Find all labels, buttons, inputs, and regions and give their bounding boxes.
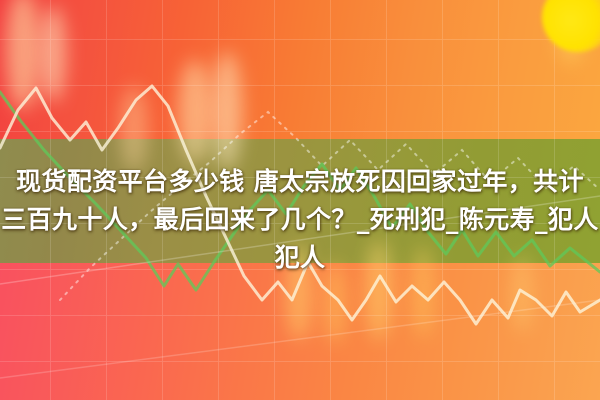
headline-line-2: 三百九十人，最后回来了几个？_死刑犯_陈元寿_犯人 <box>0 201 600 239</box>
headline-line-3: 犯人 <box>0 239 600 277</box>
screenshot-canvas: 现货配资平台多少钱 唐太宗放死囚回家过年，共计 三百九十人，最后回来了几个？_死… <box>0 0 600 400</box>
chart-support-line-2 <box>0 300 600 378</box>
headline-text: 现货配资平台多少钱 唐太宗放死囚回家过年，共计 三百九十人，最后回来了几个？_死… <box>0 163 600 277</box>
headline-line-1: 现货配资平台多少钱 唐太宗放死囚回家过年，共计 <box>0 163 600 201</box>
